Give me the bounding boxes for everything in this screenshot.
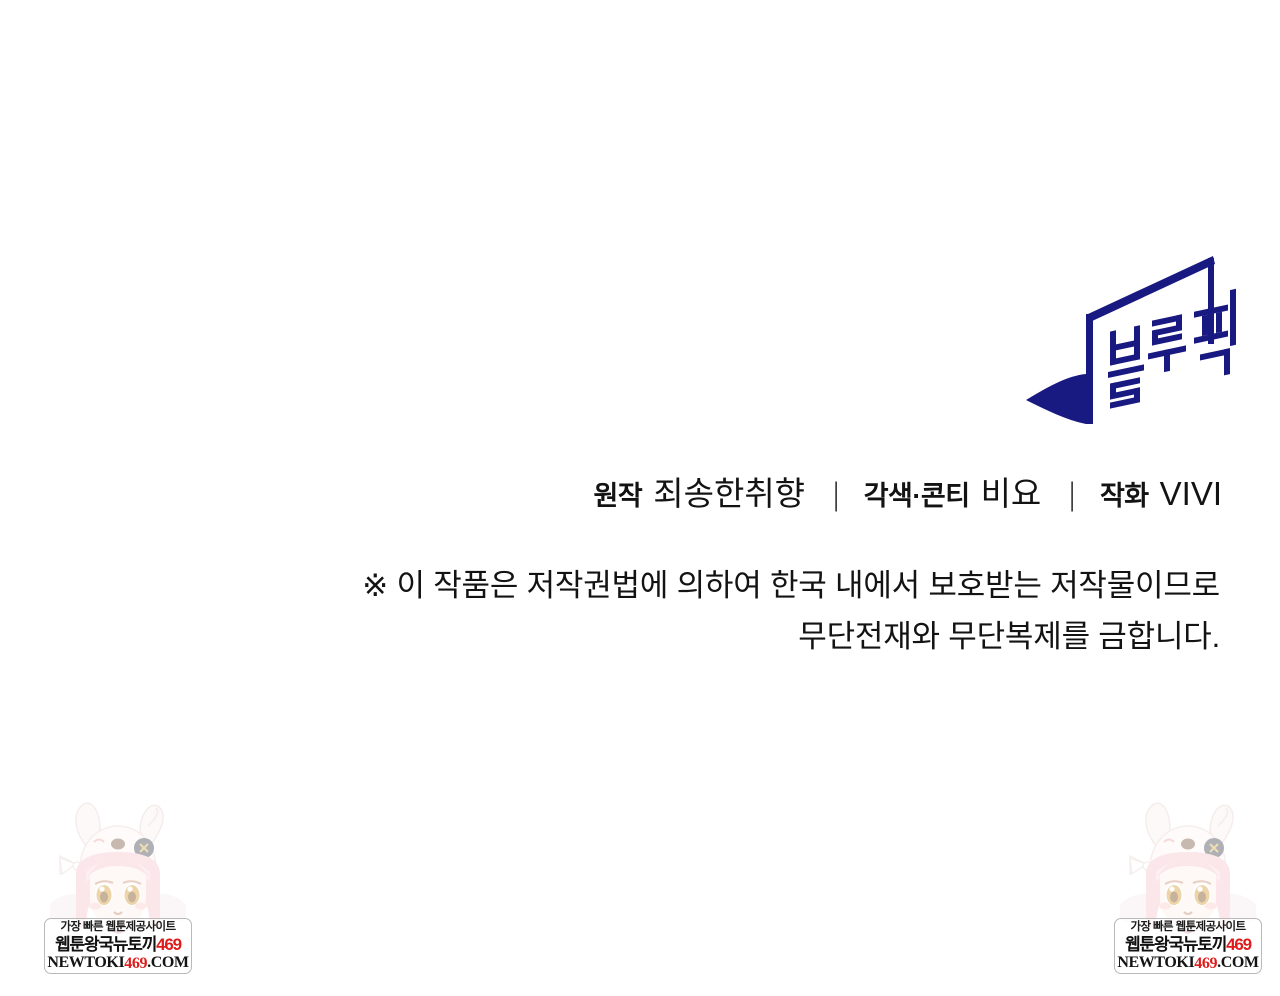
flag-icon	[1026, 256, 1215, 424]
watermark-textbox: 가장 빠른 웹툰제공사이트 웹툰왕국뉴토끼469 NEWTOKI469.COM	[44, 918, 192, 974]
publisher-logo	[1012, 248, 1228, 434]
webtoon-credits-page: 원작죄송한취향 | 각색·콘티비요 | 작화VIVI ※ 이 작품은 저작권법에…	[0, 0, 1280, 996]
watermark-tagline: 가장 빠른 웹툰제공사이트	[1115, 920, 1261, 935]
watermark-site-number: 469	[1226, 935, 1251, 954]
watermark-domain-suffix: .COM	[1217, 954, 1259, 971]
credit-entry-original: 원작죄송한취향	[594, 475, 806, 512]
credit-role-adaptation: 각색·콘티	[864, 481, 970, 511]
copyright-line-2: 무단전재와 무단복제를 금합니다.	[0, 611, 1220, 662]
watermark-domain-number: 469	[1194, 955, 1217, 972]
mascot-character-icon	[50, 800, 186, 934]
credit-separator: |	[834, 472, 839, 516]
credit-person-art: VIVI	[1160, 475, 1222, 512]
copyright-line-1: ※ 이 작품은 저작권법에 의하여 한국 내에서 보호받는 저작물이므로	[0, 560, 1220, 611]
credit-entry-art: 작화VIVI	[1100, 475, 1222, 512]
watermark-left: 가장 빠른 웹툰제공사이트 웹툰왕국뉴토끼469 NEWTOKI469.COM	[42, 800, 194, 976]
watermark-tagline: 가장 빠른 웹툰제공사이트	[45, 920, 191, 935]
watermark-domain-prefix: NEWTOKI	[1117, 954, 1194, 971]
watermark-domain-number: 469	[124, 955, 147, 972]
watermark-domain: NEWTOKI469.COM	[45, 954, 191, 972]
watermark-domain: NEWTOKI469.COM	[1115, 954, 1261, 972]
watermark-site-name: 웹툰왕국뉴토끼469	[45, 935, 191, 954]
watermark-domain-suffix: .COM	[147, 954, 189, 971]
credit-separator: |	[1070, 472, 1075, 516]
watermark-site-name-text: 웹툰왕국뉴토끼	[1125, 935, 1226, 954]
credit-person-adaptation: 비요	[981, 475, 1042, 512]
watermark-site-name: 웹툰왕국뉴토끼469	[1115, 935, 1261, 954]
credit-entry-adaptation: 각색·콘티비요	[864, 475, 1042, 512]
credit-role-original: 원작	[594, 481, 643, 511]
credit-role-art: 작화	[1100, 481, 1149, 511]
watermark-domain-prefix: NEWTOKI	[47, 954, 124, 971]
credit-person-original: 죄송한취향	[653, 475, 805, 512]
credits-line: 원작죄송한취향 | 각색·콘티비요 | 작화VIVI	[0, 472, 1222, 518]
watermark-site-name-text: 웹툰왕국뉴토끼	[55, 935, 156, 954]
watermark-right: 가장 빠른 웹툰제공사이트 웹툰왕국뉴토끼469 NEWTOKI469.COM	[1112, 800, 1264, 976]
copyright-notice: ※ 이 작품은 저작권법에 의하여 한국 내에서 보호받는 저작물이므로 무단전…	[0, 560, 1220, 662]
mascot-character-icon	[1120, 800, 1256, 934]
watermark-textbox: 가장 빠른 웹툰제공사이트 웹툰왕국뉴토끼469 NEWTOKI469.COM	[1114, 918, 1262, 974]
watermark-site-number: 469	[156, 935, 181, 954]
